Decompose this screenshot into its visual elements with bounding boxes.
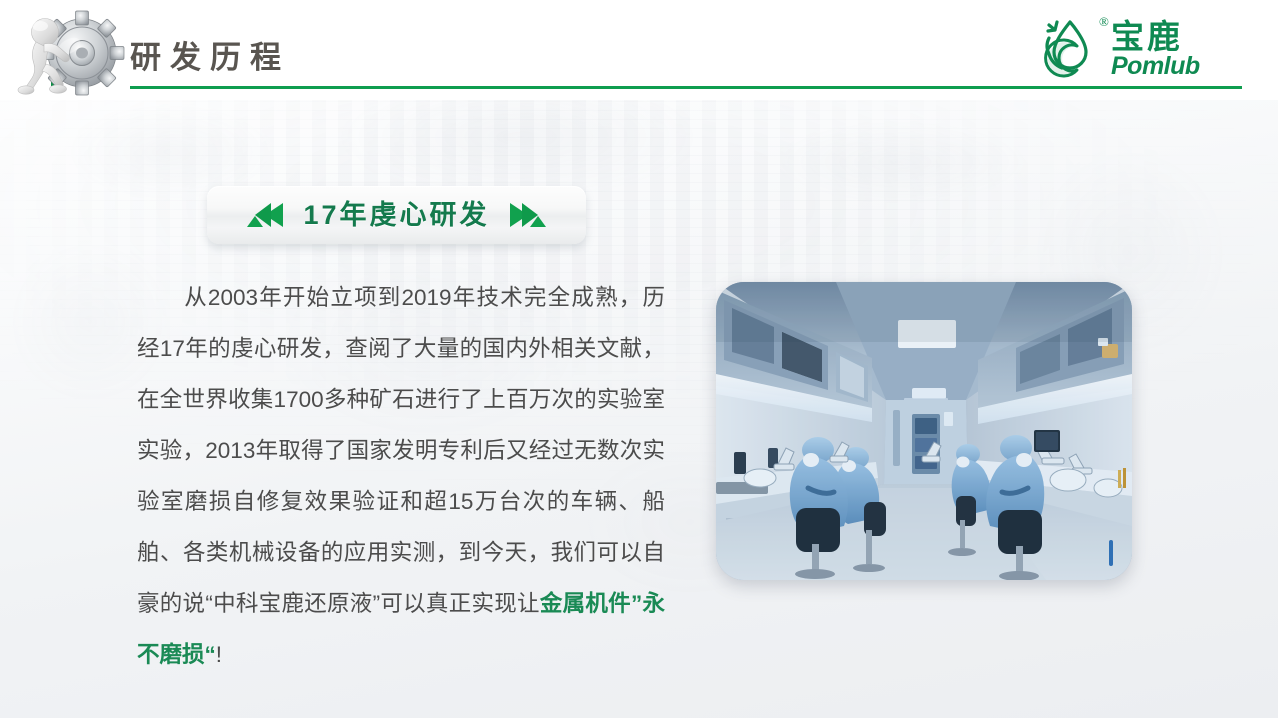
- laboratory-photo-illustration: [716, 282, 1132, 580]
- section-banner-label: 17年虔心研发: [303, 202, 489, 229]
- brand-name-cn: 宝鹿: [1111, 20, 1183, 53]
- body-paragraph: 从2003年开始立项到2019年技术完全成熟，历经17年的虔心研发，查阅了大量的…: [137, 272, 665, 680]
- section-banner: 17年虔心研发: [207, 186, 586, 244]
- double-chevron-right-icon: [508, 200, 548, 230]
- page-title: 研发历程: [130, 42, 290, 73]
- double-chevron-left-icon: [245, 200, 285, 230]
- slide-root: 研发历程 ® 宝鹿 Pomlub 17年虔心研发: [0, 0, 1278, 718]
- person-pushing-gear-icon: [10, 6, 135, 100]
- paragraph-segment-2: !: [216, 642, 222, 667]
- brand-logo: ® 宝鹿 Pomlub: [1037, 14, 1242, 84]
- deer-droplet-logo-icon: [1037, 16, 1101, 80]
- laboratory-photo: [716, 282, 1132, 580]
- paragraph-segment-1: 从2003年开始立项到2019年技术完全成熟，历经17年的虔心研发，查阅了大量的…: [137, 285, 665, 616]
- brand-name-en: Pomlub: [1111, 54, 1200, 79]
- header-underline: [130, 86, 1242, 89]
- registered-trademark-symbol: ®: [1099, 14, 1109, 30]
- slide-header: 研发历程 ® 宝鹿 Pomlub: [0, 0, 1278, 100]
